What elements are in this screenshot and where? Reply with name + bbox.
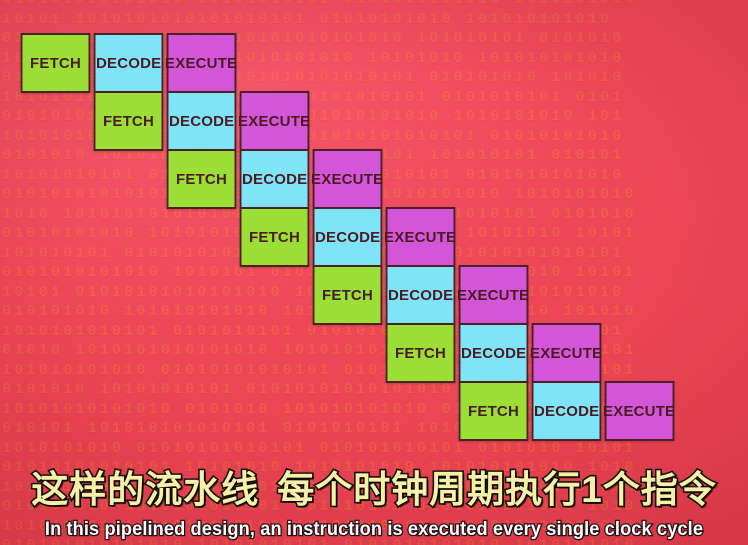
pipeline-cell-label: DECODE <box>461 345 526 362</box>
pipeline-cell-decode: DECODE <box>532 381 602 441</box>
pipeline-cell-fetch: FETCH <box>313 265 383 325</box>
pipeline-cell-label: FETCH <box>176 171 227 188</box>
pipeline-cell-label: EXECUTE <box>457 287 529 304</box>
pipeline-cell-fetch: FETCH <box>167 149 237 209</box>
pipeline-cell-label: DECODE <box>169 113 234 130</box>
pipeline-cell-label: EXECUTE <box>384 229 456 246</box>
pipeline-cell-label: DECODE <box>534 403 599 420</box>
pipeline-cell-label: FETCH <box>395 345 446 362</box>
pipeline-diagram-scene: 1010101010101010 10101010101 01010101010… <box>0 0 748 545</box>
pipeline-cell-decode: DECODE <box>386 265 456 325</box>
pipeline-cell-decode: DECODE <box>240 149 310 209</box>
pipeline-cell-label: DECODE <box>315 229 380 246</box>
pipeline-cell-fetch: FETCH <box>386 323 456 383</box>
pipeline-cell-label: EXECUTE <box>238 113 310 130</box>
pipeline-cell-label: FETCH <box>322 287 373 304</box>
pipeline-cell-label: DECODE <box>242 171 307 188</box>
pipeline-cell-label: EXECUTE <box>603 403 675 420</box>
pipeline-grid: FETCHDECODEEXECUTEFETCHDECODEEXECUTEFETC… <box>0 0 748 470</box>
pipeline-cell-label: FETCH <box>30 55 81 72</box>
pipeline-cell-fetch: FETCH <box>240 207 310 267</box>
pipeline-cell-fetch: FETCH <box>94 91 164 151</box>
pipeline-cell-label: DECODE <box>96 55 161 72</box>
pipeline-cell-label: EXECUTE <box>530 345 602 362</box>
pipeline-cell-decode: DECODE <box>313 207 383 267</box>
pipeline-cell-label: DECODE <box>388 287 453 304</box>
pipeline-cell-execute: EXECUTE <box>240 91 310 151</box>
pipeline-cell-execute: EXECUTE <box>167 33 237 93</box>
pipeline-cell-label: FETCH <box>468 403 519 420</box>
pipeline-cell-label: EXECUTE <box>165 55 237 72</box>
pipeline-cell-fetch: FETCH <box>459 381 529 441</box>
pipeline-cell-execute: EXECUTE <box>605 381 675 441</box>
pipeline-cell-execute: EXECUTE <box>313 149 383 209</box>
pipeline-cell-label: EXECUTE <box>311 171 383 188</box>
pipeline-cell-execute: EXECUTE <box>532 323 602 383</box>
pipeline-cell-execute: EXECUTE <box>459 265 529 325</box>
pipeline-cell-label: FETCH <box>103 113 154 130</box>
pipeline-cell-decode: DECODE <box>167 91 237 151</box>
pipeline-cell-decode: DECODE <box>459 323 529 383</box>
pipeline-cell-fetch: FETCH <box>21 33 91 93</box>
pipeline-cell-label: FETCH <box>249 229 300 246</box>
pipeline-cell-execute: EXECUTE <box>386 207 456 267</box>
pipeline-cell-decode: DECODE <box>94 33 164 93</box>
